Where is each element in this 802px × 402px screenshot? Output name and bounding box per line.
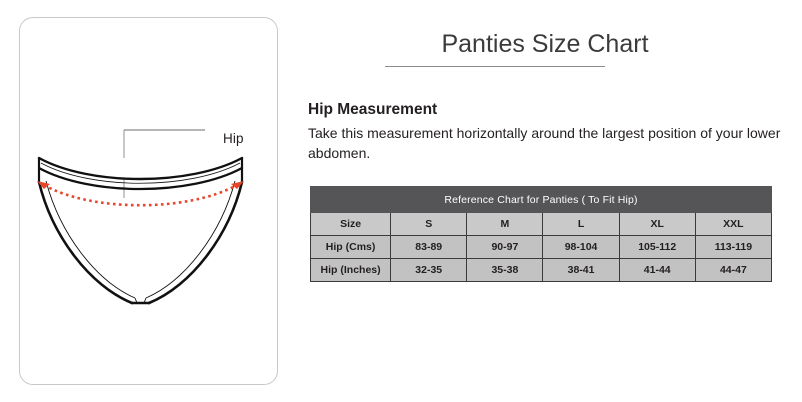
cell-hip-cms-xxl: 113-119 bbox=[695, 236, 771, 259]
section-heading: Hip Measurement bbox=[308, 101, 437, 119]
table-size-cell-m: M bbox=[467, 213, 543, 236]
left-leg-opening-hem bbox=[46, 181, 135, 298]
table-size-header-row: Size S M L XL XXL bbox=[311, 213, 772, 236]
table-row: Hip (Inches) 32-35 35-38 38-41 41-44 44-… bbox=[311, 259, 772, 282]
illustration-panel: Hip bbox=[19, 17, 278, 385]
cell-hip-inches-xl: 41-44 bbox=[619, 259, 695, 282]
right-leg-opening-outer bbox=[149, 182, 242, 303]
cell-hip-inches-s: 32-35 bbox=[391, 259, 467, 282]
table-row: Hip (Cms) 83-89 90-97 98-104 105-112 113… bbox=[311, 236, 772, 259]
cell-hip-cms-m: 90-97 bbox=[467, 236, 543, 259]
right-leg-opening-hem bbox=[146, 181, 235, 298]
table-size-cell-xl: XL bbox=[619, 213, 695, 236]
section-description: Take this measurement horizontally aroun… bbox=[308, 123, 788, 163]
table-banner-row: Reference Chart for Panties ( To Fit Hip… bbox=[311, 187, 772, 213]
table-size-label-cell: Size bbox=[311, 213, 391, 236]
cell-hip-cms-s: 83-89 bbox=[391, 236, 467, 259]
cell-hip-inches-l: 38-41 bbox=[543, 259, 619, 282]
table-size-cell-s: S bbox=[391, 213, 467, 236]
panty-illustration bbox=[20, 18, 279, 386]
content-column: Panties Size Chart Hip Measurement Take … bbox=[300, 0, 790, 402]
cell-hip-cms-xl: 105-112 bbox=[619, 236, 695, 259]
row-label-hip-inches: Hip (Inches) bbox=[311, 259, 391, 282]
table-size-cell-l: L bbox=[543, 213, 619, 236]
table-banner-title: Reference Chart for Panties ( To Fit Hip… bbox=[311, 187, 772, 213]
cell-hip-inches-xxl: 44-47 bbox=[695, 259, 771, 282]
cell-hip-inches-m: 35-38 bbox=[467, 259, 543, 282]
size-reference-table: Reference Chart for Panties ( To Fit Hip… bbox=[310, 186, 772, 282]
cell-hip-cms-l: 98-104 bbox=[543, 236, 619, 259]
hip-callout-label: Hip bbox=[223, 131, 244, 146]
page-title: Panties Size Chart bbox=[385, 30, 705, 59]
table-size-cell-xxl: XXL bbox=[695, 213, 771, 236]
row-label-hip-cms: Hip (Cms) bbox=[311, 236, 391, 259]
waistband-outer-edge bbox=[39, 158, 242, 179]
title-underline-rule bbox=[385, 66, 605, 67]
